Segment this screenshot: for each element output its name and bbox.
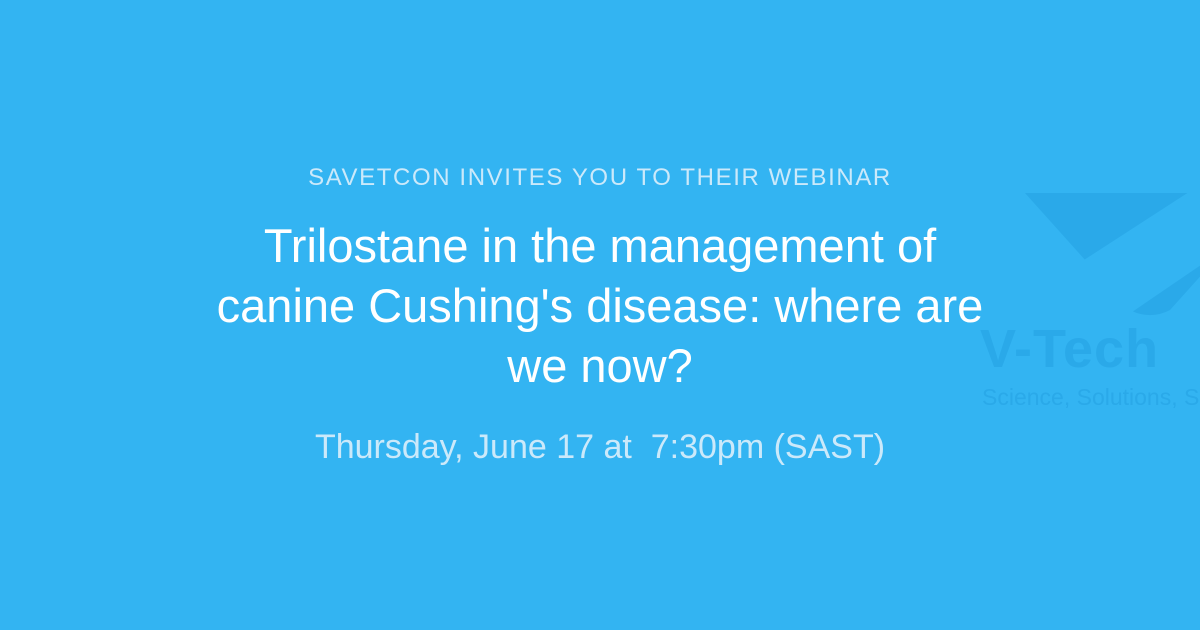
banner-datetime: Thursday, June 17 at 7:30pm (SAST)	[315, 430, 885, 464]
banner-content: SAVETCON INVITES YOU TO THEIR WEBINAR Tr…	[0, 0, 1200, 630]
banner-eyebrow: SAVETCON INVITES YOU TO THEIR WEBINAR	[308, 166, 892, 190]
webinar-banner: V-Tech Science, Solutions, S SAVETCON IN…	[0, 0, 1200, 630]
banner-headline: Trilostane in the management of canine C…	[190, 216, 1010, 396]
